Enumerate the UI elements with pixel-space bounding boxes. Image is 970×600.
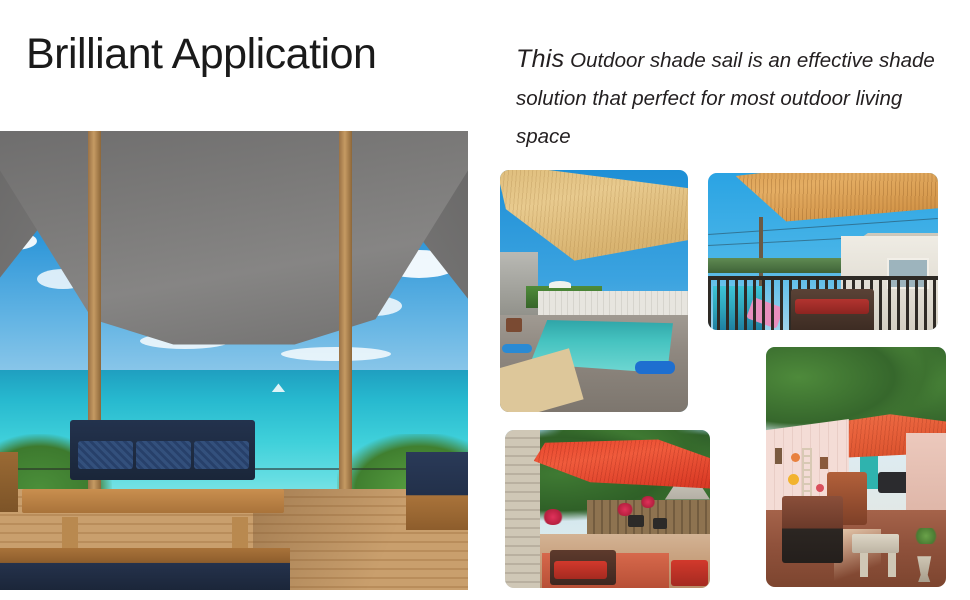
- pool-float: [502, 344, 532, 353]
- flower-cluster: [616, 503, 634, 516]
- thumbnail-tan-sail-over-deck: [708, 173, 938, 330]
- wall-decor-circle: [788, 474, 799, 485]
- sofa-cushion: [194, 441, 249, 469]
- planter: [628, 515, 644, 527]
- red-cushion: [795, 299, 869, 315]
- cloud-icon: [281, 347, 391, 361]
- wall-lantern: [775, 448, 782, 464]
- red-cushion: [554, 561, 607, 578]
- wall-frame: [820, 457, 828, 469]
- thumbnail-coral-sail-pink-courtyard: [766, 347, 946, 587]
- description-rest: Outdoor shade sail is an effective shade…: [516, 49, 935, 148]
- sofa-cushion: [136, 441, 191, 469]
- bench-leg: [888, 553, 896, 577]
- hero-photo-grey-shade-sail: [0, 131, 468, 590]
- thumbnail-sand-sail-over-pool: [500, 170, 688, 412]
- planter: [506, 318, 522, 332]
- red-cushion: [671, 560, 708, 587]
- pool-float: [635, 361, 675, 374]
- bench-leg: [860, 553, 868, 577]
- metal-chair: [782, 496, 843, 563]
- siding-wall: [505, 430, 540, 588]
- wall-decor-circle: [791, 453, 800, 462]
- thumbnail-red-sail-over-patio: [505, 430, 710, 588]
- flower-cluster: [542, 509, 564, 525]
- dining-table: [22, 489, 284, 513]
- support-post: [339, 131, 352, 535]
- page-title: Brilliant Application: [26, 30, 376, 79]
- stone-bench: [852, 534, 899, 553]
- description-lead-word: This: [516, 45, 564, 73]
- product-description: This Outdoor shade sail is an effective …: [516, 40, 946, 156]
- patio-umbrella: [549, 281, 571, 288]
- bench-front: [0, 548, 290, 590]
- planter: [653, 518, 667, 529]
- potted-plant: [913, 528, 939, 544]
- bench-left: [0, 452, 18, 512]
- bench-right: [406, 452, 468, 530]
- sofa-cushion: [78, 441, 133, 469]
